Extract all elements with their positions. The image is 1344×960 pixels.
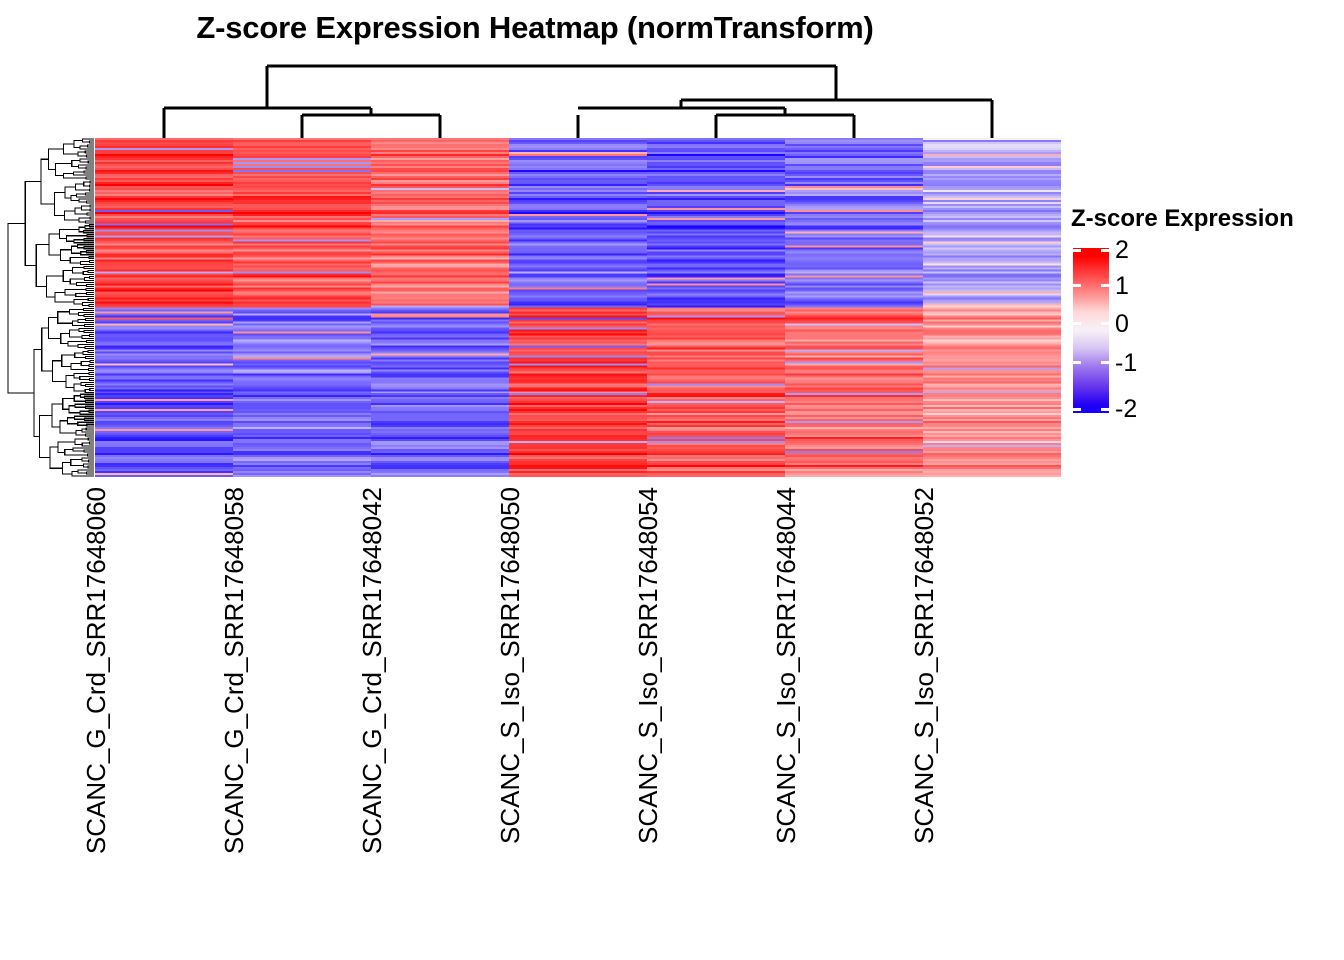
column-label: SCANC_S_Iso_SRR17648052	[911, 487, 937, 844]
heatmap-figure: Z-score Expression Heatmap (normTransfor…	[0, 0, 1344, 960]
column-label: SCANC_S_Iso_SRR17648050	[497, 487, 523, 844]
heatmap-cells	[95, 138, 1061, 477]
column-label: SCANC_G_Crd_SRR17648060	[83, 487, 109, 854]
column-dendrogram	[95, 60, 1061, 138]
column-label: SCANC_S_Iso_SRR17648044	[773, 487, 799, 844]
column-label: SCANC_G_Crd_SRR17648058	[221, 487, 247, 854]
legend-tick-label: 1	[1115, 274, 1129, 299]
row-dendrogram	[6, 138, 94, 477]
heatmap-body	[95, 138, 1061, 477]
color-legend: Z-score Expression 2 1 0 -1 -2	[1071, 205, 1336, 420]
legend-colorbar	[1073, 248, 1109, 413]
legend-tick-label: 0	[1115, 312, 1129, 337]
legend-title: Z-score Expression	[1071, 205, 1294, 233]
column-label: SCANC_S_Iso_SRR17648054	[635, 487, 661, 844]
page-title: Z-score Expression Heatmap (normTransfor…	[0, 10, 1070, 46]
legend-tick-label: -2	[1115, 397, 1137, 422]
column-label: SCANC_G_Crd_SRR17648042	[359, 487, 385, 854]
legend-tick-label: 2	[1115, 238, 1129, 263]
legend-tick-label: -1	[1115, 351, 1137, 376]
